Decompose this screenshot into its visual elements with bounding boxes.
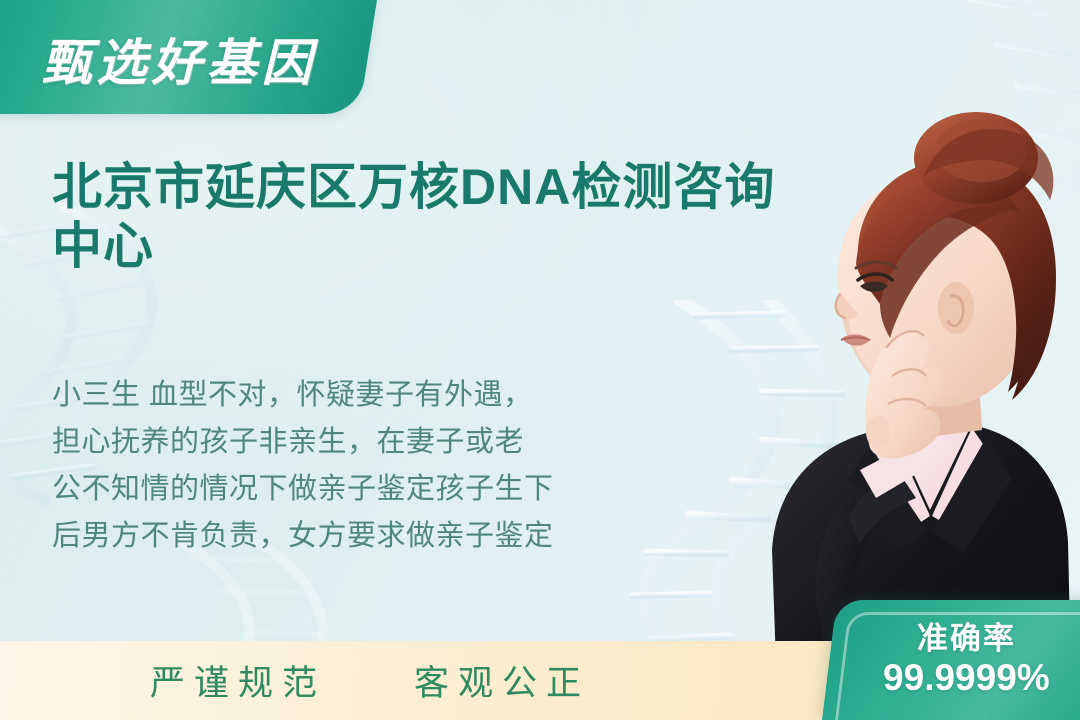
description-line: 公不知情的情况下做亲子鉴定孩子生下 [52,466,692,513]
page-title: 北京市延庆区万核DNA检测咨询中心 [52,158,822,276]
dna-helix-watermark-icon [872,0,1080,264]
description-text: 小三生 血型不对，怀疑妻子有外遇， 担心抚养的孩子非亲生，在妻子或老 公不知情的… [52,372,692,560]
description-line: 担心抚养的孩子非亲生，在妻子或老 [52,419,692,466]
slogan-right: 客观公正 [414,655,590,706]
brand-logo-text: 甄选好基因 [42,23,317,95]
description-line: 小三生 血型不对，怀疑妻子有外遇， [52,372,692,419]
brand-logo-banner: 甄选好基因 [0,0,381,114]
accuracy-value: 99.9999% [883,658,1050,699]
description-line: 后男方不肯负责，女方要求做亲子鉴定 [52,513,692,560]
accuracy-badge: 准确率 99.9999% [822,600,1080,720]
slogan-left: 严谨规范 [150,655,326,706]
accuracy-label: 准确率 [917,621,1016,657]
promo-poster: 甄选好基因 北京市延庆区万核DNA检测咨询中心 小三生 血型不对，怀疑妻子有外遇… [0,0,1080,720]
